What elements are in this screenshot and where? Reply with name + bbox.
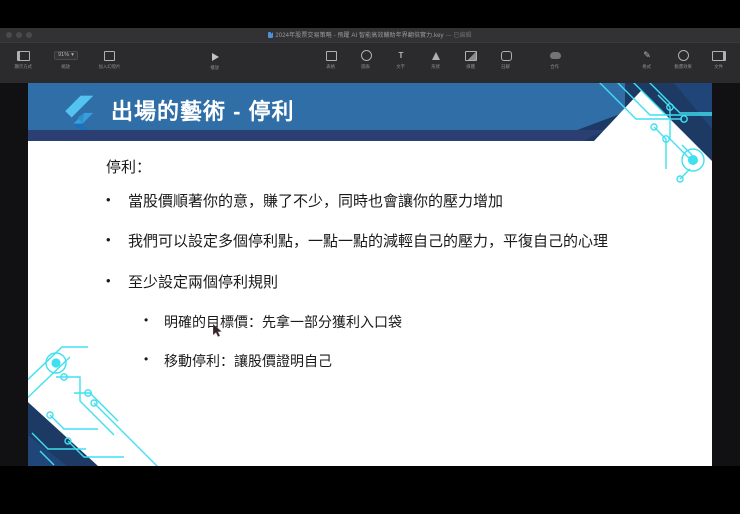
canvas-right-margin xyxy=(712,83,740,466)
document-label: 文件 xyxy=(715,64,724,70)
bullet-marker: • xyxy=(144,314,164,328)
screen: 2024年股票交易策略 - 飛躍 AI 智能高效輔助年界翻倍實力.key — 已… xyxy=(0,0,740,514)
body-lead: 停利： xyxy=(106,156,151,177)
play-label: 播放 xyxy=(211,65,220,71)
zoom-control[interactable]: 91%▾ 縮放 xyxy=(46,49,86,70)
animate-icon xyxy=(678,49,689,62)
collaborate-label: 合作 xyxy=(551,64,560,70)
toolbar-right-group: ✎ 格式 動畫效果 文件 xyxy=(630,49,736,70)
bullet-item: • 我們可以設定多個停利點，一點一點的減輕自己的壓力，平復自己的心理 xyxy=(106,233,692,250)
collaborate-group: 合作 xyxy=(538,49,572,70)
slide-canvas[interactable]: 出場的藝術 - 停利 xyxy=(28,83,712,466)
play-icon xyxy=(212,50,219,63)
zoom-icon: 91%▾ xyxy=(54,49,78,62)
add-slide-button[interactable]: 加入幻燈片 xyxy=(92,49,126,70)
toolbar-insert-group: 表格 圖表 T 文字 形狀 媒體 xyxy=(314,49,523,70)
view-label: 顯示方式 xyxy=(14,64,31,70)
play-button[interactable]: 播放 xyxy=(198,50,232,71)
document-pane-icon xyxy=(712,49,726,62)
document-status: — 已編輯 xyxy=(445,33,471,39)
table-icon xyxy=(326,49,337,62)
bullet-item: • 至少設定兩個停利規則 xyxy=(106,274,692,291)
shape-label: 形狀 xyxy=(432,64,441,70)
slide-title: 出場的藝術 - 停利 xyxy=(111,95,295,129)
text-label: 文字 xyxy=(397,64,406,70)
bullet-text: 明確的目標價：先拿一部分獲利入口袋 xyxy=(164,314,402,330)
view-icon xyxy=(17,49,30,62)
sub-bullet-item: • 移動停利：讓股價證明自己 xyxy=(144,353,692,369)
keynote-window: 2024年股票交易策略 - 飛躍 AI 智能高效輔助年界翻倍實力.key — 已… xyxy=(0,28,740,83)
table-label: 表格 xyxy=(327,64,336,70)
text-button[interactable]: T 文字 xyxy=(384,49,418,70)
document-title-text: 2024年股票交易策略 - 飛躍 AI 智能高效輔助年界翻倍實力.key xyxy=(275,33,443,39)
zoom-label: 縮放 xyxy=(62,64,71,70)
play-group: 播放 xyxy=(198,50,232,71)
animate-button[interactable]: 動畫效果 xyxy=(666,49,700,70)
zoom-value: 91% xyxy=(58,53,69,59)
toolbar-left-group: 顯示方式 91%▾ 縮放 加入幻燈片 xyxy=(6,49,126,70)
comment-label: 註解 xyxy=(502,64,511,70)
view-button[interactable]: 顯示方式 xyxy=(6,49,40,70)
toolbar: 顯示方式 91%▾ 縮放 加入幻燈片 播放 xyxy=(0,43,740,84)
media-icon xyxy=(465,49,477,62)
bullet-marker: • xyxy=(106,274,128,289)
banner-navy-strip xyxy=(28,130,606,141)
collaborate-icon xyxy=(550,49,561,62)
document-title: 2024年股票交易策略 - 飛躍 AI 智能高效輔助年界翻倍實力.key — 已… xyxy=(0,30,740,39)
bullet-text: 至少設定兩個停利規則 xyxy=(128,274,278,291)
add-slide-label: 加入幻燈片 xyxy=(98,64,120,70)
format-icon: ✎ xyxy=(643,49,651,62)
comment-button[interactable]: 註解 xyxy=(489,49,523,70)
chart-button[interactable]: 圖表 xyxy=(349,49,383,70)
bullet-list: • 當股價順著你的意，賺了不少，同時也會讓你的壓力增加 • 我們可以設定多個停利… xyxy=(106,193,692,392)
bullet-text: 我們可以設定多個停利點，一點一點的減輕自己的壓力，平復自己的心理 xyxy=(128,233,608,250)
text-icon: T xyxy=(399,49,404,62)
bullet-marker: • xyxy=(106,193,128,208)
comment-icon xyxy=(501,49,512,62)
keynote-document-icon xyxy=(268,32,273,38)
add-slide-icon xyxy=(104,49,115,62)
mouse-cursor xyxy=(213,324,222,337)
bullet-marker: • xyxy=(106,233,128,248)
media-button[interactable]: 媒體 xyxy=(454,49,488,70)
shape-button[interactable]: 形狀 xyxy=(419,49,453,70)
bullet-text: 當股價順著你的意，賺了不少，同時也會讓你的壓力增加 xyxy=(128,193,503,210)
format-button[interactable]: ✎ 格式 xyxy=(630,49,664,70)
letterbox-bottom xyxy=(0,466,740,514)
format-label: 格式 xyxy=(643,64,652,70)
canvas-left-margin xyxy=(0,83,28,466)
sub-bullet-item: • 明確的目標價：先拿一部分獲利入口袋 xyxy=(144,314,692,330)
animate-label: 動畫效果 xyxy=(674,64,691,70)
circuit-bottom-left-decoration xyxy=(28,341,193,466)
collaborate-button[interactable]: 合作 xyxy=(538,49,572,70)
table-button[interactable]: 表格 xyxy=(314,49,348,70)
chart-icon xyxy=(361,49,372,62)
flutter-logo xyxy=(58,94,96,130)
bullet-item: • 當股價順著你的意，賺了不少，同時也會讓你的壓力增加 xyxy=(106,193,692,210)
shape-icon xyxy=(432,49,440,62)
document-pane-button[interactable]: 文件 xyxy=(702,49,736,70)
letterbox-top xyxy=(0,0,740,28)
media-label: 媒體 xyxy=(467,64,476,70)
chart-label: 圖表 xyxy=(362,64,371,70)
window-titlebar: 2024年股票交易策略 - 飛躍 AI 智能高效輔助年界翻倍實力.key — 已… xyxy=(0,28,740,43)
